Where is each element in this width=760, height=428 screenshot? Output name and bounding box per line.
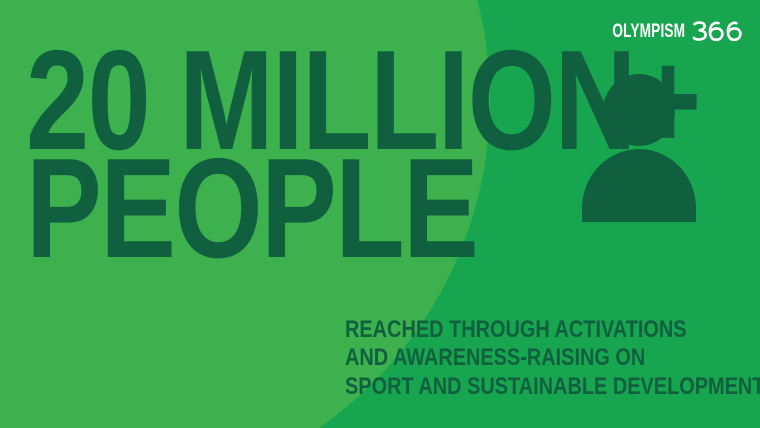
headline-line-2: PEOPLE xyxy=(26,152,700,266)
subcopy-line-1: REACHED THROUGH ACTIVATIONS xyxy=(345,316,760,344)
subcopy: REACHED THROUGH ACTIVATIONS AND AWARENES… xyxy=(345,316,760,401)
headline: 20 MILLION+ PEOPLE xyxy=(26,44,760,265)
subcopy-line-3: SPORT AND SUSTAINABLE DEVELOPMENT xyxy=(345,373,760,401)
infographic-canvas: OLYMPISM 20 MILLION+ PEOPLE REACHED THRO… xyxy=(0,0,760,428)
subcopy-line-2: AND AWARENESS-RAISING ON xyxy=(345,344,760,372)
